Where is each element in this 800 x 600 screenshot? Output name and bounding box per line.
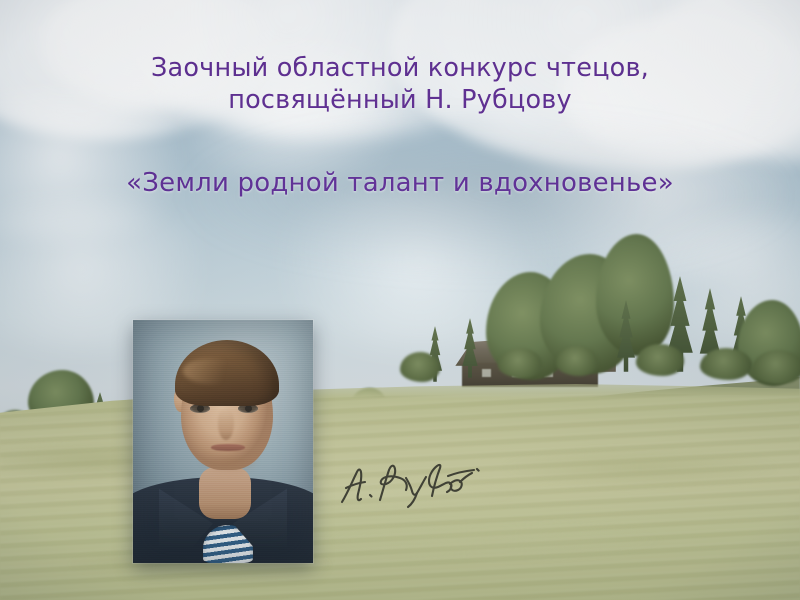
bush-icon bbox=[400, 352, 440, 382]
portrait-vignette bbox=[133, 320, 313, 563]
portrait-photo bbox=[133, 320, 313, 563]
grass-texture bbox=[0, 400, 800, 600]
bush-icon bbox=[636, 344, 684, 376]
cloud-shadow bbox=[180, 120, 800, 270]
bush-icon bbox=[700, 348, 752, 380]
bush-icon bbox=[556, 346, 598, 376]
bush-icon bbox=[752, 350, 800, 384]
conifer-icon bbox=[458, 318, 482, 378]
bush-icon bbox=[498, 348, 542, 378]
poster-canvas: Заочный областной конкурс чтецов, посвящ… bbox=[0, 0, 800, 600]
